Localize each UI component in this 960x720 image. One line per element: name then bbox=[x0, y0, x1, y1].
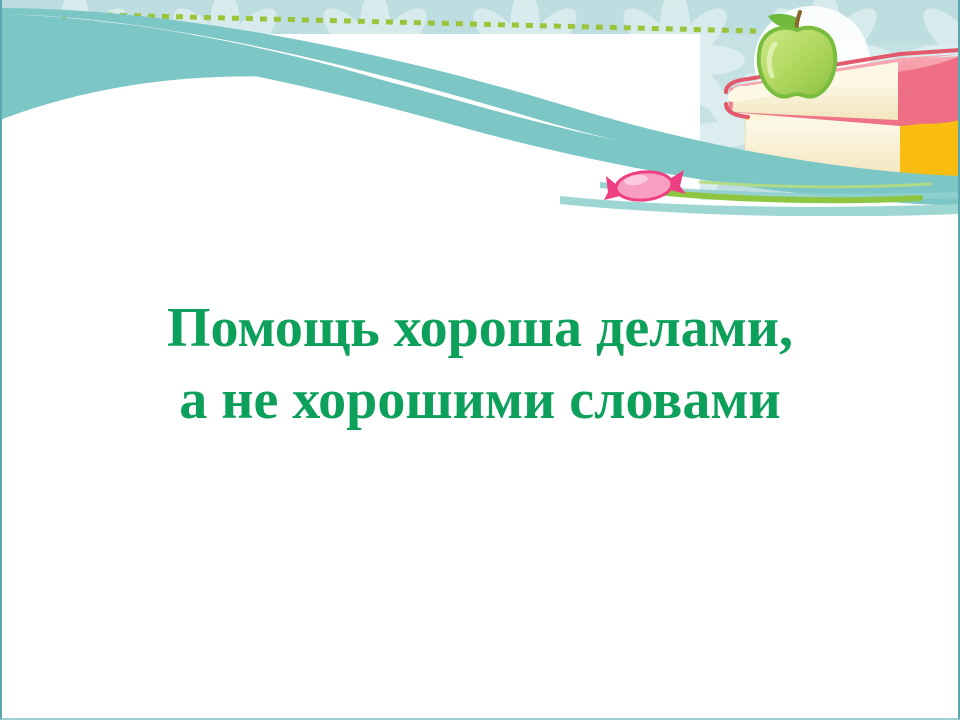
title-line-1: Помощь хороша делами, bbox=[0, 292, 960, 364]
title-line-2: а не хорошими словами bbox=[0, 364, 960, 436]
slide-canvas: Помощь хороша делами, а не хорошими слов… bbox=[0, 0, 960, 720]
slide-title: Помощь хороша делами, а не хорошими слов… bbox=[0, 292, 960, 436]
